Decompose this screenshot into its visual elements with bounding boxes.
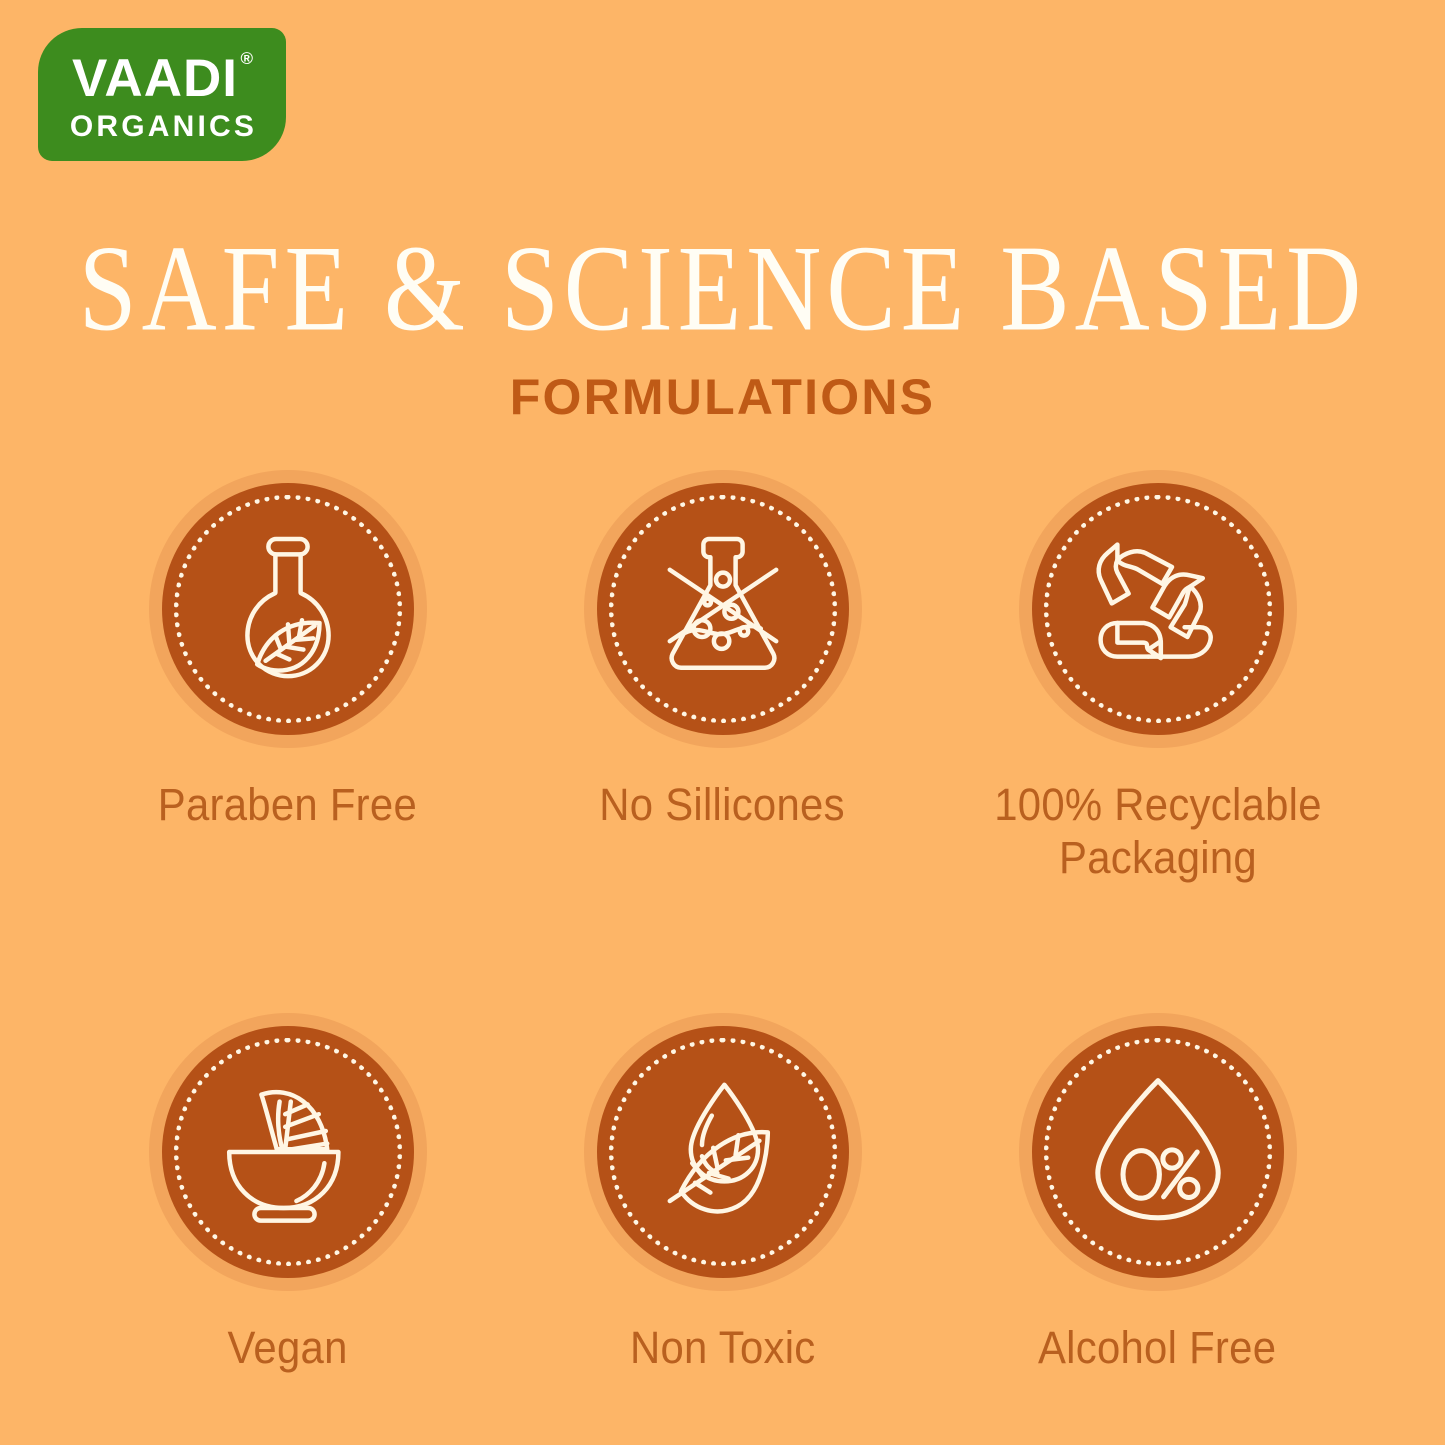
badge-circle-inner [162, 1026, 414, 1278]
badge-label: No Sillicones [600, 778, 846, 831]
badge-label: Non Toxic [630, 1321, 816, 1374]
brand-name-text: VAADI [72, 49, 238, 108]
recycle-icon [1074, 525, 1242, 693]
bowl-leaf-icon [204, 1068, 372, 1236]
badge-paraben-free: Paraben Free [70, 470, 505, 831]
badge-circle [584, 1013, 862, 1291]
brand-name: VAADI ® [72, 52, 252, 105]
badge-circle [149, 1013, 427, 1291]
badge-no-sillicones: No Sillicones [505, 470, 940, 831]
badge-circle-inner [1032, 1026, 1284, 1278]
badge-non-toxic: Non Toxic [505, 1013, 940, 1374]
badge-circle [149, 470, 427, 748]
flask-leaf-icon [204, 525, 372, 693]
badge-circle [1019, 1013, 1297, 1291]
badge-label: Paraben Free [158, 778, 417, 831]
badge-label: Vegan [227, 1321, 347, 1374]
badge-label: 100% Recyclable Packaging [967, 778, 1348, 884]
feature-badge-grid: Paraben Free [0, 470, 1445, 1374]
badge-circle-inner [1032, 483, 1284, 735]
badge-circle [584, 470, 862, 748]
flask-crossed-out-icon [639, 525, 807, 693]
badge-circle-inner [597, 483, 849, 735]
brand-tagline: ORGANICS [67, 112, 257, 142]
droplet-zero-percent-icon [1074, 1068, 1242, 1236]
badge-recyclable-packaging: 100% Recyclable Packaging [940, 470, 1375, 884]
brand-logo: VAADI ® ORGANICS [38, 28, 286, 161]
badge-alcohol-free: Alcohol Free [940, 1013, 1375, 1374]
badge-circle-inner [162, 483, 414, 735]
page-title: SAFE & SCIENCE BASED [0, 228, 1445, 351]
badge-circle-inner [597, 1026, 849, 1278]
badge-vegan: Vegan [70, 1013, 505, 1374]
badge-circle [1019, 470, 1297, 748]
droplet-leaf-icon [639, 1068, 807, 1236]
registered-trademark-icon: ® [240, 50, 254, 67]
page-subtitle: FORMULATIONS [0, 372, 1445, 422]
badge-row-2: Vegan [0, 1013, 1445, 1374]
badge-label: Alcohol Free [1038, 1321, 1276, 1374]
badge-row-1: Paraben Free [0, 470, 1445, 884]
